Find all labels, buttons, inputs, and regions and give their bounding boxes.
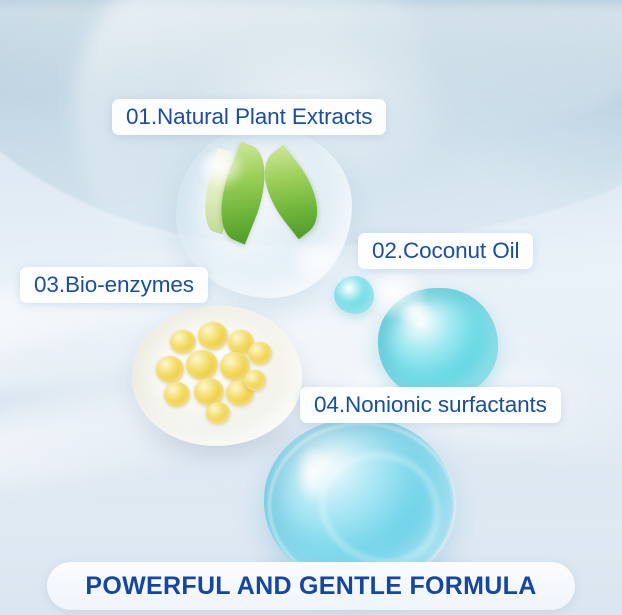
ingredient-label-03: 03.Bio-enzymes	[20, 267, 208, 303]
headline-text: POWERFUL AND GENTLE FORMULA	[85, 572, 536, 601]
oil-bead	[248, 342, 272, 365]
cyan-orb-highlight	[400, 302, 434, 328]
ingredient-label-04: 04.Nonionic surfactants	[300, 387, 561, 423]
oil-bead	[198, 322, 228, 350]
oil-bead	[206, 402, 230, 424]
oil-bead	[186, 350, 218, 380]
blue-orb-highlight	[296, 448, 330, 504]
ingredient-label-01: 01.Natural Plant Extracts	[112, 99, 386, 135]
oil-bead	[156, 356, 184, 383]
ingredient-label-02: 02.Coconut Oil	[358, 233, 533, 269]
headline-banner: POWERFUL AND GENTLE FORMULA	[47, 562, 575, 610]
product-ingredient-poster: 01.Natural Plant Extracts 02.Coconut Oil…	[0, 0, 622, 615]
oil-bead	[244, 370, 266, 391]
oil-bead	[170, 330, 196, 354]
oil-bead	[164, 382, 190, 407]
clear-orb-highlight	[200, 150, 246, 190]
clear-orb-highlight-lower	[286, 238, 346, 282]
cyan-droplet	[334, 276, 374, 314]
